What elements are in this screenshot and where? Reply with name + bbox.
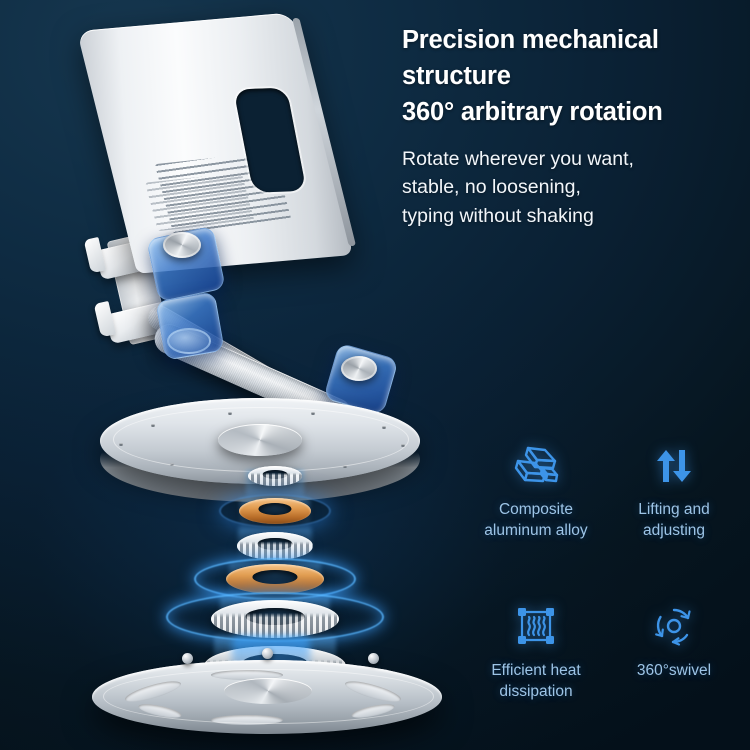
feature-lifting-and-adjusting: Lifting and adjusting bbox=[608, 442, 740, 541]
aluminum-ingots-icon bbox=[512, 442, 560, 490]
up-down-arrows-icon bbox=[652, 442, 696, 490]
feature-efficient-heat-dissipation: Efficient heat dissipation bbox=[470, 603, 602, 702]
headline-line-3: 360° arbitrary rotation bbox=[402, 94, 742, 130]
base-plate-hub bbox=[224, 678, 312, 704]
feature-label-line-2: dissipation bbox=[491, 681, 580, 702]
headline-line-2: structure bbox=[402, 58, 742, 94]
feature-360-swivel: 360°swivel bbox=[608, 603, 740, 702]
feature-label-line-1: 360°swivel bbox=[637, 660, 711, 681]
hinge-collar bbox=[167, 328, 211, 354]
feature-label-line-1: Efficient heat bbox=[491, 660, 580, 681]
feature-grid: Composite aluminum alloy Lifting and adj… bbox=[470, 442, 740, 702]
product-illustration bbox=[0, 0, 460, 750]
bearing-ring-4-copper bbox=[226, 564, 324, 594]
marketing-copy: Precision mechanical structure 360° arbi… bbox=[402, 22, 742, 231]
product-marketing-poster: Precision mechanical structure 360° arbi… bbox=[0, 0, 750, 750]
feature-label: 360°swivel bbox=[637, 660, 711, 681]
heat-dissipation-icon bbox=[513, 603, 559, 651]
feature-composite-aluminum-alloy: Composite aluminum alloy bbox=[470, 442, 602, 541]
headline-line-1: Precision mechanical bbox=[402, 26, 659, 54]
sub-copy: Rotate wherever you want, stable, no loo… bbox=[402, 145, 742, 231]
rotation-swivel-icon bbox=[651, 603, 697, 651]
feature-label-line-1: Lifting and bbox=[638, 499, 710, 520]
sub-line-2: stable, no loosening, bbox=[402, 173, 742, 202]
tension-knob-bottom bbox=[341, 356, 377, 381]
back-support-plate bbox=[77, 12, 353, 273]
bearing-ring-3-steel bbox=[237, 532, 313, 560]
feature-label: Lifting and adjusting bbox=[638, 499, 710, 541]
page-title: Precision mechanical structure 360° arbi… bbox=[402, 22, 742, 131]
feature-label: Composite aluminum alloy bbox=[484, 499, 587, 541]
base-stud-center bbox=[262, 648, 273, 659]
tension-knob-top bbox=[163, 232, 201, 258]
bearing-ring-2-copper bbox=[239, 498, 311, 524]
sub-line-3: typing without shaking bbox=[402, 202, 742, 231]
feature-label: Efficient heat dissipation bbox=[491, 660, 580, 702]
bearing-ring-5-gear bbox=[211, 600, 339, 638]
feature-label-line-2: adjusting bbox=[638, 520, 710, 541]
feature-label-line-1: Composite bbox=[484, 499, 587, 520]
upper-disc-hub bbox=[218, 424, 302, 456]
feature-label-line-2: aluminum alloy bbox=[484, 520, 587, 541]
sub-line-1: Rotate wherever you want, bbox=[402, 145, 742, 174]
bearing-ring-1-steel bbox=[248, 466, 302, 486]
base-stud-right bbox=[368, 653, 379, 664]
base-stud-left bbox=[182, 653, 193, 664]
plate-edge bbox=[292, 18, 356, 247]
